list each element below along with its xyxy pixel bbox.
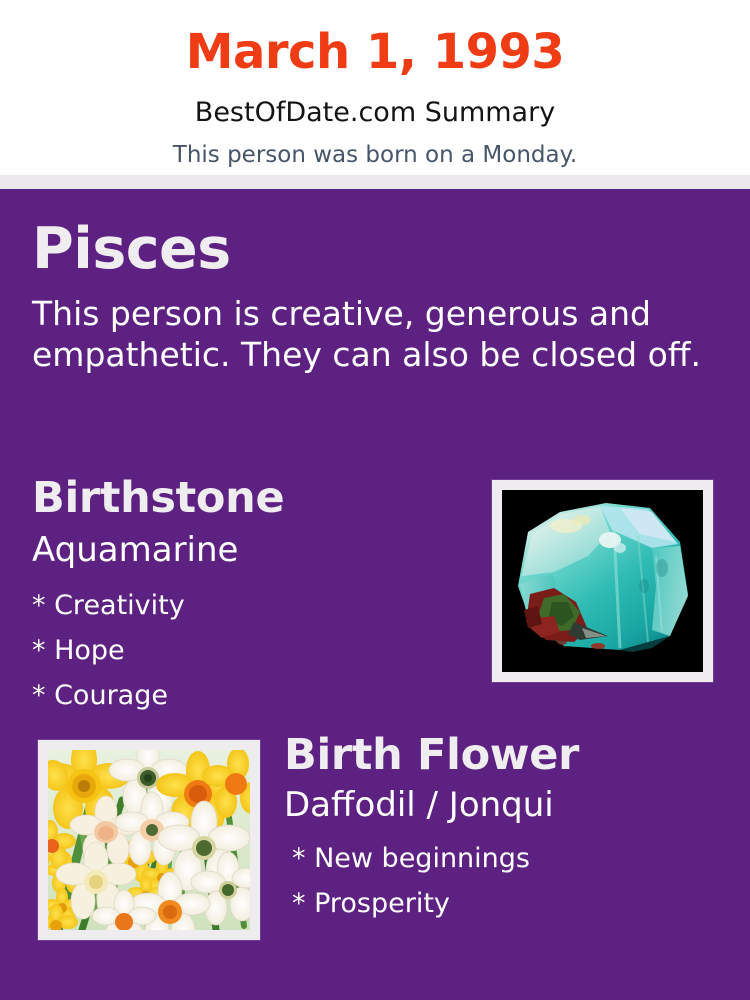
birthstone-traits: * Creativity * Hope * Courage (32, 567, 472, 718)
site-name: BestOfDate.com Summary (0, 76, 750, 126)
list-item: * Creativity (32, 583, 472, 628)
zodiac-sign-title: Pisces (32, 221, 231, 278)
birth-flower-image-frame (38, 740, 260, 940)
birthstone-title: Birthstone (32, 477, 472, 520)
zodiac-description: This person is creative, generous and em… (32, 293, 712, 375)
page-title: March 1, 1993 (0, 0, 750, 76)
birthstone-image-frame (492, 480, 713, 682)
header-divider (0, 175, 750, 189)
list-item: * Hope (32, 628, 472, 673)
list-item: * New beginnings (292, 836, 714, 881)
birth-flower-title: Birth Flower (284, 734, 714, 777)
list-item: * Courage (32, 673, 472, 718)
birthstone-name: Aquamarine (32, 520, 472, 567)
birth-day-note: This person was born on a Monday. (0, 126, 750, 167)
birth-flower-traits: * New beginnings * Prosperity (284, 822, 714, 926)
list-item: * Prosperity (292, 881, 714, 926)
daffodil-flowers-photo (48, 750, 250, 930)
card-header: March 1, 1993 BestOfDate.com Summary Thi… (0, 0, 750, 175)
birth-flower-name: Daffodil / Jonqui (284, 777, 714, 822)
birth-flower-section: Birth Flower Daffodil / Jonqui * New beg… (284, 734, 714, 926)
aquamarine-crystal-photo (502, 490, 703, 672)
birthstone-section: Birthstone Aquamarine * Creativity * Hop… (32, 477, 472, 718)
summary-card: March 1, 1993 BestOfDate.com Summary Thi… (0, 0, 750, 1000)
